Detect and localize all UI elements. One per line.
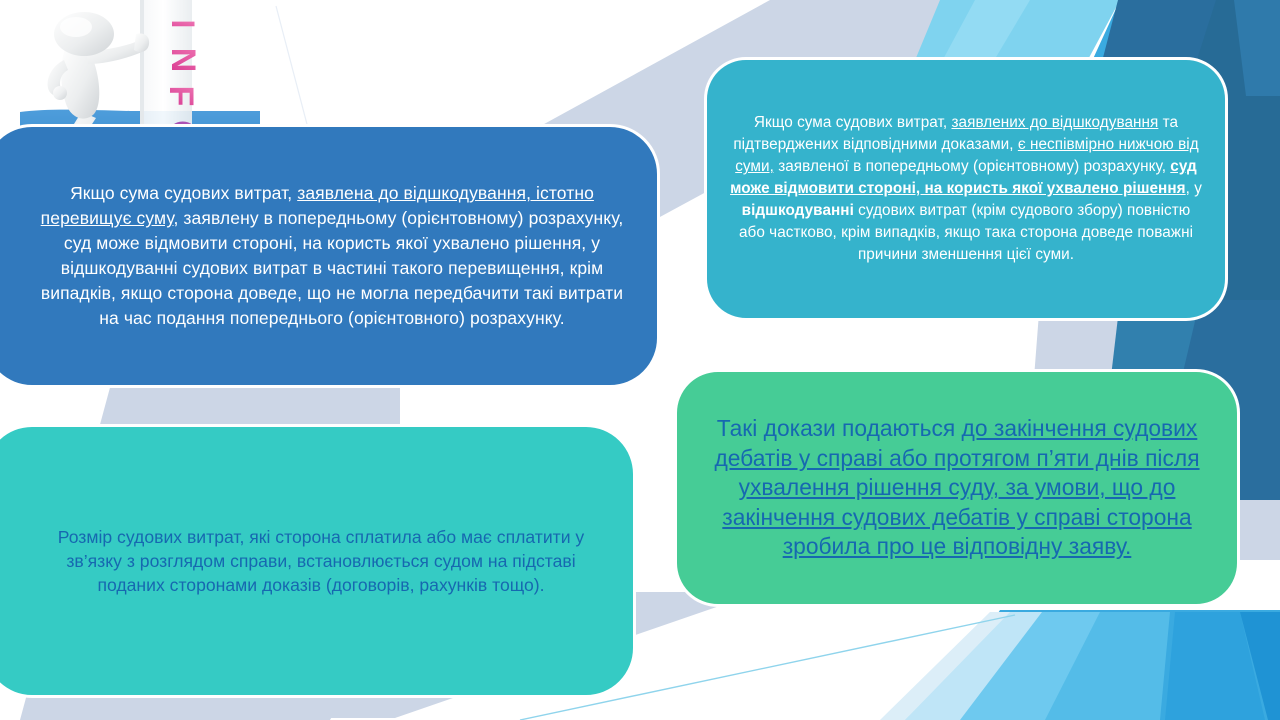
mannequin-hand-left [53, 86, 67, 100]
callout-amount-of-costs-text: Розмір судових витрат, які сторона сплат… [0, 525, 633, 598]
seg-plain: Розмір судових витрат, які сторона сплат… [58, 527, 584, 596]
seg-bold: відшкодуванні [742, 202, 854, 219]
callout-amount-of-costs: Розмір судових витрат, які сторона сплат… [0, 424, 636, 698]
seg-plain-4: , у [1186, 180, 1202, 197]
info-letter-f: F [162, 86, 200, 107]
seg-plain-3: заявленої в попередньому (орієнтовному) … [774, 158, 1170, 175]
callout-evidence-deadline-text: Такі докази подаються до закінчення судо… [677, 414, 1237, 562]
callout-excessive-costs: Якщо сума судових витрат, заявлена до ві… [0, 124, 660, 388]
info-sign-panel-edge [140, 0, 144, 142]
seg-underline: заявлених до відшкодування [951, 114, 1158, 131]
slide-canvas: I N F O Якщо сума судових витрат, заявле… [0, 0, 1280, 720]
callout-disproportionately-lower-costs-text: Якщо сума судових витрат, заявлених до в… [707, 112, 1225, 265]
callout-excessive-costs-text: Якщо сума судових витрат, заявлена до ві… [0, 181, 657, 330]
callout-evidence-deadline: Такі докази подаються до закінчення судо… [674, 369, 1240, 607]
info-letter-n: N [164, 48, 202, 73]
mannequin-head-highlight [60, 17, 92, 37]
seg-plain: Якщо сума судових витрат, [754, 114, 952, 131]
info-letter-i: I [165, 20, 201, 29]
seg-plain: Якщо сума судових витрат, [70, 183, 297, 203]
callout-disproportionately-lower-costs: Якщо сума судових витрат, заявлених до в… [704, 57, 1228, 321]
seg-plain: Такі докази подаються [717, 415, 962, 441]
